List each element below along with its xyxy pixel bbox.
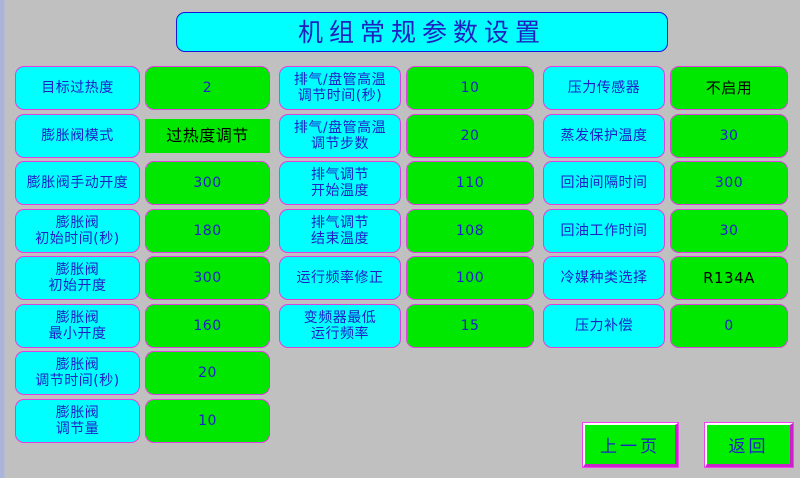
- parameter-value-field[interactable]: 30: [670, 209, 788, 253]
- parameter-label-text: 膨胀阀 调节量: [16, 405, 139, 437]
- parameter-label-text: 排气/盘管高温 调节步数: [280, 120, 400, 152]
- parameter-value-text: 30: [671, 223, 787, 239]
- parameter-value-text: 不启用: [671, 80, 787, 96]
- parameter-label-text: 膨胀阀 最小开度: [16, 310, 139, 342]
- parameter-value-field[interactable]: 300: [670, 161, 788, 205]
- parameter-value-text: 160: [146, 318, 269, 334]
- parameter-label: 排气/盘管高温 调节时间(秒): [279, 66, 401, 110]
- parameter-value-text: R134A: [671, 270, 787, 286]
- prev-page-label: 上一页: [600, 432, 660, 457]
- page-title-text: 机组常规参数设置: [298, 20, 546, 45]
- parameter-value-field[interactable]: 2: [145, 66, 270, 110]
- parameter-value-field[interactable]: 0: [670, 304, 788, 348]
- parameter-label-text: 蒸发保护温度: [544, 128, 664, 144]
- parameter-label: 冷媒种类选择: [543, 256, 665, 300]
- parameter-label: 膨胀阀 调节量: [15, 399, 140, 443]
- parameter-label: 压力补偿: [543, 304, 665, 348]
- parameter-value-field[interactable]: 30: [670, 114, 788, 158]
- left-edge-rail: [0, 0, 5, 478]
- parameter-label: 回油工作时间: [543, 209, 665, 253]
- parameter-label-text: 变频器最低 运行频率: [280, 310, 400, 342]
- parameter-label-text: 回油间隔时间: [544, 175, 664, 191]
- parameter-label-text: 膨胀阀手动开度: [16, 175, 139, 191]
- parameter-label-text: 目标过热度: [16, 80, 139, 96]
- parameter-value-field[interactable]: 20: [406, 114, 534, 158]
- parameter-value-field[interactable]: 不启用: [670, 66, 788, 110]
- parameter-label: 目标过热度: [15, 66, 140, 110]
- parameter-value-field[interactable]: 300: [145, 161, 270, 205]
- page-title: 机组常规参数设置: [176, 12, 668, 52]
- parameter-label: 膨胀阀 调节时间(秒): [15, 351, 140, 395]
- parameter-value-field[interactable]: 300: [145, 256, 270, 300]
- parameter-value-text: 300: [146, 270, 269, 286]
- parameter-label: 回油间隔时间: [543, 161, 665, 205]
- parameter-value-text: 2: [146, 80, 269, 96]
- parameter-label: 膨胀阀 初始时间(秒): [15, 209, 140, 253]
- parameter-value-field[interactable]: 100: [406, 256, 534, 300]
- hmi-screen: 机组常规参数设置 目标过热度2膨胀阀模式过热度调节膨胀阀手动开度300膨胀阀 初…: [0, 0, 800, 478]
- parameter-label-text: 排气调节 开始温度: [280, 167, 400, 199]
- parameter-label: 膨胀阀 最小开度: [15, 304, 140, 348]
- parameter-value-text: 0: [671, 318, 787, 334]
- parameter-label: 排气/盘管高温 调节步数: [279, 114, 401, 158]
- parameter-label-text: 排气/盘管高温 调节时间(秒): [280, 72, 400, 104]
- parameter-value-text: 10: [146, 413, 269, 429]
- parameter-value-field[interactable]: 10: [406, 66, 534, 110]
- back-label: 返回: [729, 432, 769, 457]
- parameter-label-text: 排气调节 结束温度: [280, 215, 400, 247]
- parameter-value-text: 20: [407, 128, 533, 144]
- parameter-label: 排气调节 结束温度: [279, 209, 401, 253]
- parameter-value-field[interactable]: 108: [406, 209, 534, 253]
- parameter-value-field[interactable]: 110: [406, 161, 534, 205]
- parameter-label: 膨胀阀 初始开度: [15, 256, 140, 300]
- parameter-value-field[interactable]: 10: [145, 399, 270, 443]
- parameter-label: 膨胀阀模式: [15, 114, 140, 158]
- parameter-value-text: 15: [407, 318, 533, 334]
- parameter-label: 变频器最低 运行频率: [279, 304, 401, 348]
- parameter-value-field[interactable]: 160: [145, 304, 270, 348]
- parameter-label-text: 回油工作时间: [544, 223, 664, 239]
- parameter-value-text: 10: [407, 80, 533, 96]
- parameter-value-field[interactable]: R134A: [670, 256, 788, 300]
- parameter-value-text: 300: [671, 175, 787, 191]
- parameter-label-text: 压力传感器: [544, 80, 664, 96]
- parameter-label-text: 膨胀阀模式: [16, 128, 139, 144]
- parameter-label-text: 膨胀阀 调节时间(秒): [16, 357, 139, 389]
- prev-page-button[interactable]: 上一页: [583, 423, 678, 467]
- parameter-label-text: 膨胀阀 初始时间(秒): [16, 215, 139, 247]
- parameter-value-text: 过热度调节: [145, 128, 270, 144]
- parameter-label: 运行频率修正: [279, 256, 401, 300]
- parameter-value-text: 180: [146, 223, 269, 239]
- parameter-value-field[interactable]: 180: [145, 209, 270, 253]
- parameter-label-text: 冷媒种类选择: [544, 270, 664, 286]
- parameter-value-field[interactable]: 过热度调节: [145, 119, 270, 153]
- parameter-label-text: 运行频率修正: [280, 270, 400, 286]
- parameter-value-text: 100: [407, 270, 533, 286]
- parameter-value-text: 300: [146, 175, 269, 191]
- parameter-value-text: 110: [407, 175, 533, 191]
- parameter-label: 排气调节 开始温度: [279, 161, 401, 205]
- parameter-label: 膨胀阀手动开度: [15, 161, 140, 205]
- parameter-value-field[interactable]: 20: [145, 351, 270, 395]
- parameter-label: 蒸发保护温度: [543, 114, 665, 158]
- parameter-label-text: 膨胀阀 初始开度: [16, 262, 139, 294]
- parameter-value-field[interactable]: 15: [406, 304, 534, 348]
- parameter-label: 压力传感器: [543, 66, 665, 110]
- parameter-value-text: 20: [146, 365, 269, 381]
- parameter-value-text: 30: [671, 128, 787, 144]
- back-button[interactable]: 返回: [705, 423, 793, 467]
- parameter-value-text: 108: [407, 223, 533, 239]
- parameter-label-text: 压力补偿: [544, 318, 664, 334]
